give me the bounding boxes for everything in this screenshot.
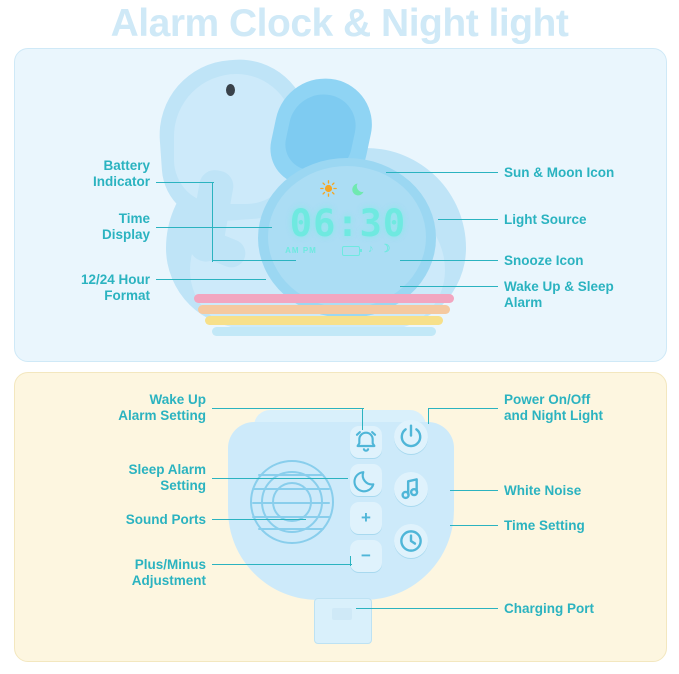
alarm-bell-icon bbox=[350, 426, 382, 458]
moon-icon bbox=[350, 464, 382, 496]
leader-time-setting bbox=[450, 525, 498, 526]
label-wake-sleep-alarm: Wake Up & Sleep Alarm bbox=[504, 279, 674, 311]
power-night-light-button[interactable] bbox=[394, 420, 428, 454]
leader-battery bbox=[156, 182, 214, 183]
grill-line-5 bbox=[258, 528, 324, 530]
label-sound-ports: Sound Ports bbox=[62, 512, 206, 528]
label-snooze-icon: Snooze Icon bbox=[504, 253, 664, 269]
time-setting-button[interactable] bbox=[394, 524, 428, 558]
leader-sleep-setting bbox=[212, 478, 348, 479]
music-note-icon bbox=[394, 472, 428, 506]
leader-battery-v bbox=[212, 182, 213, 262]
label-time-setting: Time Setting bbox=[504, 518, 674, 534]
moon-icon bbox=[352, 181, 368, 197]
plus-button[interactable]: + bbox=[350, 502, 382, 534]
sun-moon-icon-group bbox=[320, 180, 380, 198]
rainbow-band-pink bbox=[194, 294, 454, 303]
power-icon bbox=[394, 420, 428, 454]
sleep-alarm-button[interactable] bbox=[350, 464, 382, 496]
grill-line-2 bbox=[252, 488, 330, 490]
device-back-illustration: + − bbox=[222, 398, 462, 648]
leader-hour-format bbox=[156, 279, 266, 280]
wake-up-alarm-button[interactable] bbox=[350, 426, 382, 458]
sound-ports-grill bbox=[250, 460, 334, 544]
label-sun-moon-icon: Sun & Moon Icon bbox=[504, 165, 664, 181]
rainbow-band-yellow bbox=[205, 316, 443, 325]
leader-sun-moon bbox=[386, 172, 498, 173]
leader-light-source bbox=[438, 219, 498, 220]
leader-battery-h2 bbox=[212, 260, 296, 261]
snooze-icon-glyph: ♪ ☽ bbox=[368, 242, 412, 256]
label-sleep-alarm-setting: Sleep Alarm Setting bbox=[62, 462, 206, 494]
leader-wake-up-setting bbox=[212, 408, 364, 409]
grill-line-3 bbox=[252, 502, 330, 504]
leader-power bbox=[428, 408, 498, 409]
leader-wake-up-setting-v bbox=[362, 408, 363, 430]
label-wake-up-alarm-setting: Wake Up Alarm Setting bbox=[62, 392, 206, 424]
label-charging-port: Charging Port bbox=[504, 601, 674, 617]
label-plus-minus-adjustment: Plus/Minus Adjustment bbox=[62, 557, 206, 589]
charging-port-housing bbox=[314, 598, 372, 644]
elephant-eye bbox=[226, 84, 235, 96]
page-title: Alarm Clock & Night light bbox=[0, 2, 679, 46]
clock-icon bbox=[394, 524, 428, 558]
elephant-clock-illustration: 06:30 AM PM ♪ ☽ bbox=[150, 50, 490, 350]
label-white-noise: White Noise bbox=[504, 483, 674, 499]
am-pm-indicator: AM PM bbox=[278, 246, 324, 255]
grill-line-1 bbox=[258, 474, 324, 476]
battery-icon bbox=[342, 246, 360, 256]
label-battery-indicator: Battery Indicator bbox=[40, 158, 150, 190]
charging-port-hole bbox=[332, 608, 352, 620]
leader-plus-minus bbox=[212, 564, 352, 565]
rainbow-base bbox=[194, 294, 456, 338]
clock-time: 06:30 bbox=[278, 202, 418, 245]
pm-label: PM bbox=[303, 246, 317, 255]
minus-label: − bbox=[350, 540, 382, 572]
white-noise-button[interactable] bbox=[394, 472, 428, 506]
rainbow-band-blue bbox=[212, 327, 436, 336]
leader-sound-ports bbox=[212, 519, 306, 520]
label-power-night-light: Power On/Off and Night Light bbox=[504, 392, 674, 424]
sun-icon bbox=[320, 180, 337, 197]
label-light-source: Light Source bbox=[504, 212, 664, 228]
leader-time-display bbox=[156, 227, 272, 228]
leader-power-v bbox=[428, 408, 429, 424]
leader-snooze bbox=[400, 260, 498, 261]
label-hour-format: 12/24 Hour Format bbox=[24, 272, 150, 304]
leader-charging-port bbox=[356, 608, 498, 609]
leader-white-noise bbox=[450, 490, 498, 491]
leader-wake-sleep bbox=[400, 286, 498, 287]
leader-plus-minus-v bbox=[350, 556, 351, 566]
minus-button[interactable]: − bbox=[350, 540, 382, 572]
grill-line-4 bbox=[252, 516, 330, 518]
label-time-display: Time Display bbox=[40, 211, 150, 243]
rainbow-band-orange bbox=[198, 305, 450, 314]
plus-label: + bbox=[350, 502, 382, 534]
am-label: AM bbox=[285, 246, 299, 255]
